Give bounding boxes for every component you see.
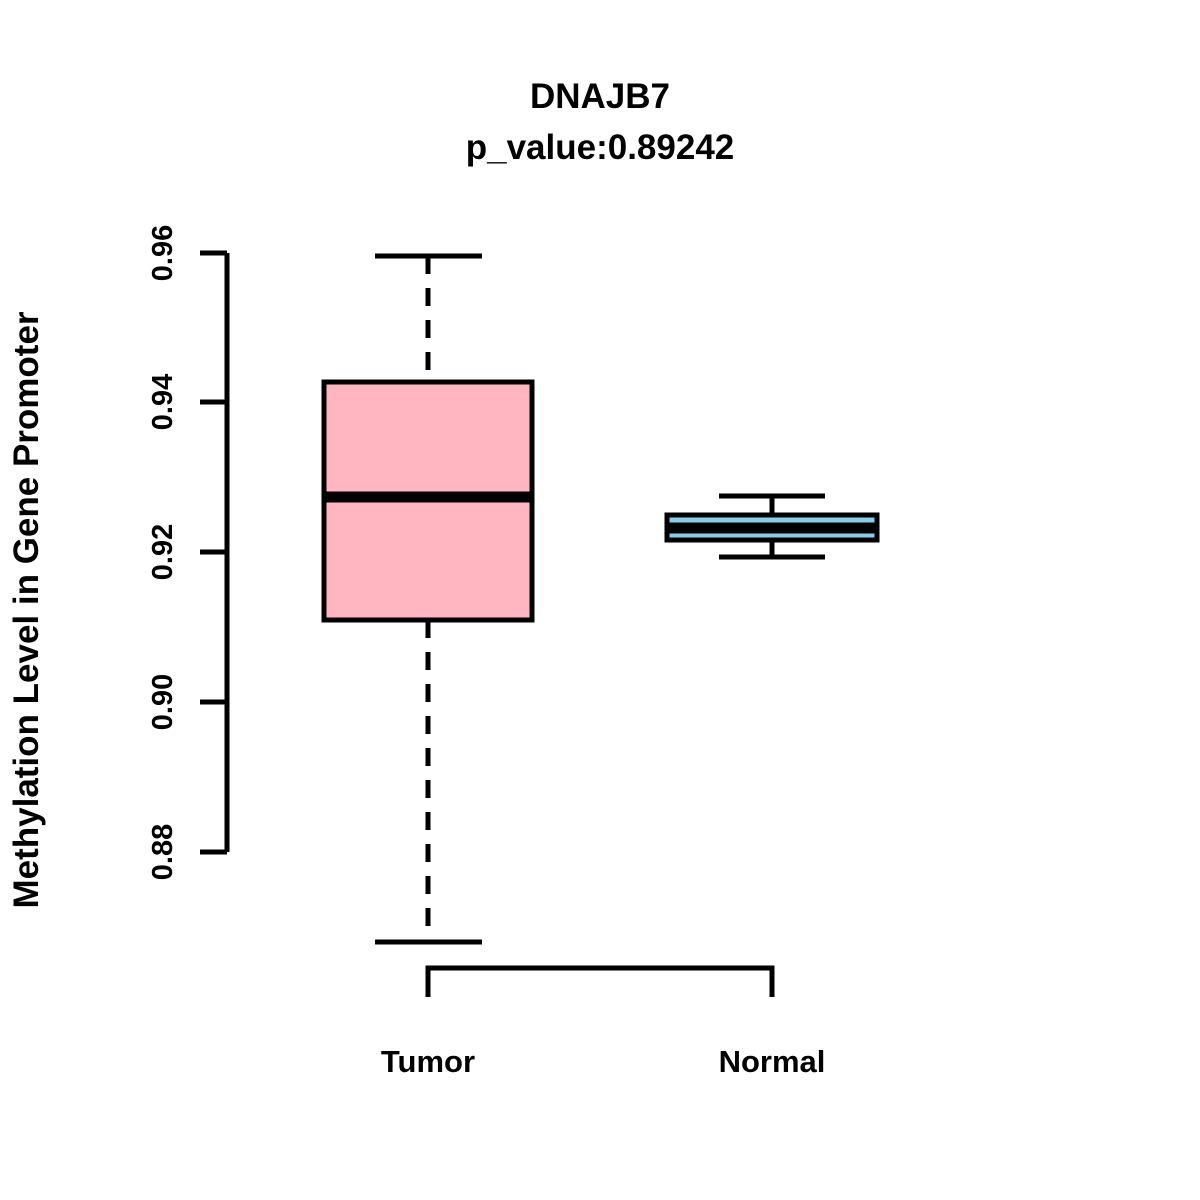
y-tick-label-4: 0.96 bbox=[147, 225, 179, 281]
y-axis-title: Methylation Level in Gene Promoter bbox=[7, 311, 46, 908]
y-tick-label-2: 0.92 bbox=[147, 524, 179, 580]
chart-background bbox=[0, 0, 1200, 1200]
y-tick-label-1: 0.90 bbox=[147, 674, 179, 730]
x-axis-label-normal: Normal bbox=[719, 1044, 826, 1079]
y-tick-label-3: 0.94 bbox=[147, 374, 179, 430]
chart-title: DNAJB7 bbox=[530, 77, 670, 116]
boxplot-figure: DNAJB7 p_value:0.89242 Methylation Level… bbox=[0, 0, 1200, 1200]
y-tick-label-0: 0.88 bbox=[147, 824, 179, 880]
chart-canvas: DNAJB7 p_value:0.89242 Methylation Level… bbox=[0, 0, 1200, 1200]
chart-subtitle: p_value:0.89242 bbox=[466, 128, 735, 167]
x-axis-label-tumor: Tumor bbox=[381, 1044, 475, 1079]
